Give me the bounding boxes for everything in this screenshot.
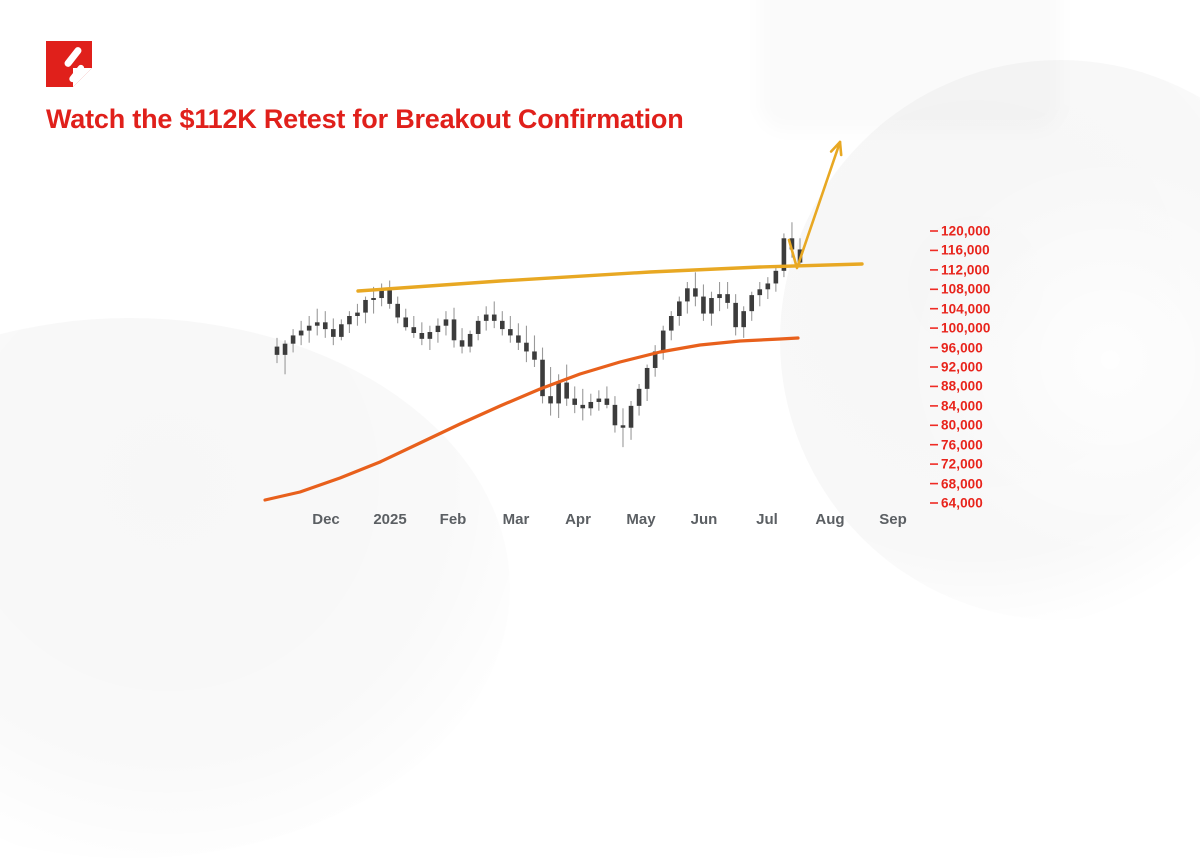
candle-body — [766, 283, 771, 289]
y-axis-label: 92,000 — [941, 360, 983, 375]
candle-body — [637, 389, 642, 406]
candle-body — [411, 327, 416, 333]
candle-body — [468, 334, 473, 347]
candle-body — [371, 298, 376, 300]
candle-body — [492, 315, 497, 321]
candle-body — [741, 311, 746, 327]
candle-body — [701, 297, 706, 314]
candle-body — [484, 315, 489, 321]
candle-body — [476, 321, 481, 334]
candle-body — [460, 340, 465, 346]
candle-body — [709, 298, 714, 314]
y-axis-label: 76,000 — [941, 437, 983, 452]
candle-body — [548, 396, 553, 403]
candle-body — [500, 321, 505, 329]
x-axis-label: 2025 — [373, 511, 406, 528]
candle-body — [395, 304, 400, 318]
candle-body — [580, 405, 585, 408]
candle-body — [556, 383, 561, 404]
poster-canvas: Watch the $112K Retest for Breakout Conf… — [0, 0, 1200, 628]
candle-body — [275, 347, 280, 355]
candle-body — [733, 303, 738, 327]
candle-body — [661, 331, 666, 352]
x-axis-label: Aug — [815, 511, 844, 528]
x-axis-label: Jun — [691, 511, 718, 528]
y-axis-label: 116,000 — [941, 243, 990, 258]
x-axis-label: Mar — [503, 511, 530, 528]
candle-body — [629, 406, 634, 428]
y-axis-label: 72,000 — [941, 457, 983, 472]
candle-body — [693, 288, 698, 296]
y-axis-label: 104,000 — [941, 301, 991, 316]
candle-body — [508, 329, 513, 335]
y-axis-label: 64,000 — [941, 496, 983, 511]
candle-body — [379, 290, 384, 298]
candle-body — [564, 383, 569, 399]
y-axis-label: 112,000 — [941, 262, 990, 277]
candle-body — [403, 317, 408, 327]
y-axis-label: 68,000 — [941, 476, 983, 491]
candle-body — [323, 322, 328, 329]
x-axis-label: Dec — [312, 511, 340, 528]
y-axis-label: 80,000 — [941, 418, 983, 433]
candle-body — [516, 335, 521, 342]
projection-arrow-path — [789, 142, 840, 268]
candle-body — [355, 313, 360, 316]
candle-body — [645, 368, 650, 389]
candle-body — [444, 319, 449, 325]
candle-body — [677, 301, 682, 316]
candle-body — [532, 351, 537, 359]
candle-body — [420, 333, 425, 339]
candle-body — [363, 300, 368, 313]
candle-body — [299, 331, 304, 336]
candle-body — [428, 332, 433, 339]
x-axis-label: May — [626, 511, 655, 528]
x-axis-label: Sep — [879, 511, 907, 528]
x-axis-label: Apr — [565, 511, 591, 528]
candlestick-series — [275, 222, 803, 447]
candle-body — [605, 399, 610, 405]
candle-body — [717, 294, 722, 298]
candle-body — [597, 399, 602, 402]
candle-body — [307, 326, 312, 331]
y-axis-label: 100,000 — [941, 321, 991, 336]
candle-body — [315, 322, 320, 325]
price-chart — [0, 0, 1200, 628]
y-axis-label: 96,000 — [941, 340, 983, 355]
x-axis-label: Jul — [756, 511, 778, 528]
candle-body — [347, 316, 352, 324]
candle-body — [387, 290, 392, 304]
candle-body — [725, 294, 730, 303]
candle-body — [291, 335, 296, 343]
candle-body — [283, 344, 288, 355]
candle-body — [749, 295, 754, 311]
candle-body — [540, 360, 545, 396]
candle-body — [669, 316, 674, 331]
candle-body — [339, 324, 344, 337]
horizontal-gridlines — [262, 231, 932, 503]
candle-body — [685, 288, 690, 301]
candle-body — [452, 319, 457, 340]
y-axis-label: 108,000 — [941, 282, 991, 297]
candle-body — [572, 399, 577, 405]
y-axis-ticks — [930, 231, 938, 503]
y-axis-label: 88,000 — [941, 379, 983, 394]
moving-average-line — [265, 338, 798, 500]
candle-body — [331, 329, 336, 337]
candle-body — [774, 271, 779, 284]
candle-body — [757, 289, 762, 295]
x-axis-label: Feb — [440, 511, 467, 528]
candle-body — [436, 326, 441, 332]
y-axis-label: 120,000 — [941, 224, 991, 239]
resistance-trendline — [358, 264, 862, 291]
candle-body — [589, 402, 594, 408]
candle-body — [613, 405, 618, 425]
candle-body — [621, 425, 626, 427]
y-axis-label: 84,000 — [941, 398, 983, 413]
candle-body — [524, 343, 529, 352]
